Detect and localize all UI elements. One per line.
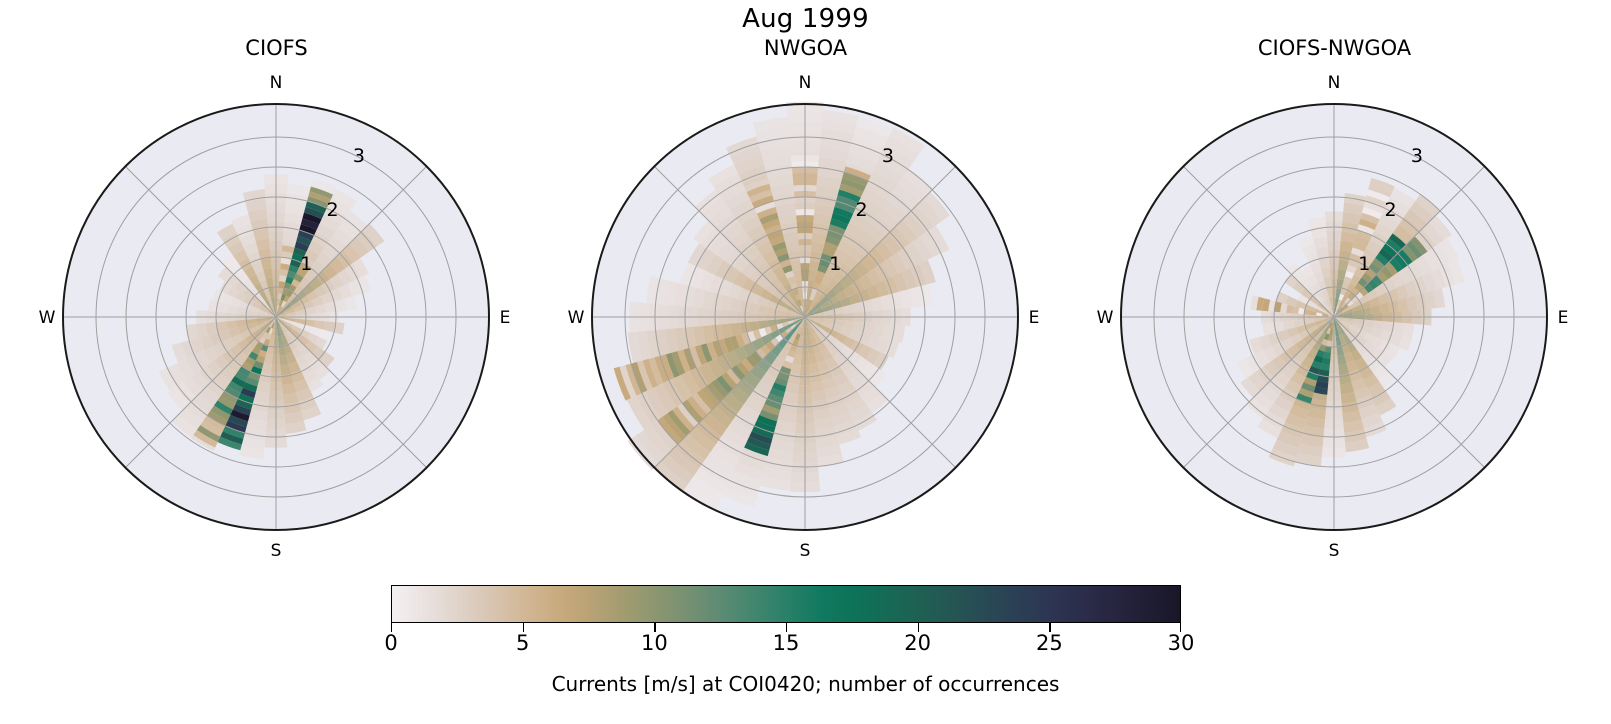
direction-label-w: W <box>1097 308 1114 328</box>
panel-ciofs-nwgoa: CIOFS-NWGOA 123NESW <box>1066 36 1603 581</box>
direction-label-s: S <box>1329 541 1340 561</box>
panel-title-nwgoa: NWGOA <box>537 36 1074 60</box>
colorbar-tick-label: 30 <box>1168 631 1195 655</box>
direction-label-w: W <box>39 308 56 328</box>
polar-axes-nwgoa[interactable]: 123NESW <box>537 62 1074 581</box>
polar-grid <box>592 104 1018 530</box>
colorbar-tick-label: 20 <box>904 631 931 655</box>
polar-axes-ciofs-nwgoa[interactable]: 123NESW <box>1066 62 1603 581</box>
colorbar-gradient <box>391 585 1181 623</box>
r-tick-label: 1 <box>829 253 841 275</box>
polar-grid <box>1121 104 1547 530</box>
colorbar-tick-label: 5 <box>516 631 529 655</box>
colorbar-tick-label: 15 <box>773 631 800 655</box>
r-tick-label: 3 <box>353 145 365 167</box>
direction-label-e: E <box>1558 308 1569 328</box>
r-tick-label: 1 <box>1358 253 1370 275</box>
panel-title-ciofs: CIOFS <box>8 36 545 60</box>
direction-label-n: N <box>799 73 812 93</box>
polar-plot-ciofs: 123NESW <box>8 62 545 581</box>
direction-label-e: E <box>1029 308 1040 328</box>
r-tick-label: 3 <box>882 145 894 167</box>
colorbar-tick-labels: 051015202530 <box>391 631 1181 657</box>
polar-plot-ciofs-nwgoa: 123NESW <box>1066 62 1603 581</box>
panel-nwgoa: NWGOA 123NESW <box>537 36 1074 581</box>
r-tick-label: 3 <box>1411 145 1423 167</box>
polar-grid <box>63 104 489 530</box>
colorbar-tick-label: 0 <box>384 631 397 655</box>
colorbar-tick-label: 10 <box>641 631 668 655</box>
panel-title-ciofs-nwgoa: CIOFS-NWGOA <box>1066 36 1603 60</box>
direction-label-s: S <box>271 541 282 561</box>
colorbar-tick-label: 25 <box>1036 631 1063 655</box>
r-tick-label: 2 <box>856 199 868 221</box>
panel-ciofs: CIOFS 123NESW <box>8 36 545 581</box>
colorbar[interactable]: 051015202530 <box>391 585 1181 625</box>
polar-axes-ciofs[interactable]: 123NESW <box>8 62 545 581</box>
r-tick-label: 2 <box>327 199 339 221</box>
polar-plot-nwgoa: 123NESW <box>537 62 1074 581</box>
direction-label-n: N <box>270 73 283 93</box>
direction-label-e: E <box>500 308 511 328</box>
direction-label-w: W <box>568 308 585 328</box>
direction-label-s: S <box>800 541 811 561</box>
direction-label-n: N <box>1328 73 1341 93</box>
figure-canvas: Aug 1999 CIOFS 123NESW NWGOA 123NESW CIO… <box>0 0 1611 724</box>
r-tick-label: 1 <box>300 253 312 275</box>
colorbar-label: Currents [m/s] at COI0420; number of occ… <box>0 672 1611 696</box>
figure-suptitle: Aug 1999 <box>0 4 1611 34</box>
r-tick-label: 2 <box>1385 199 1397 221</box>
